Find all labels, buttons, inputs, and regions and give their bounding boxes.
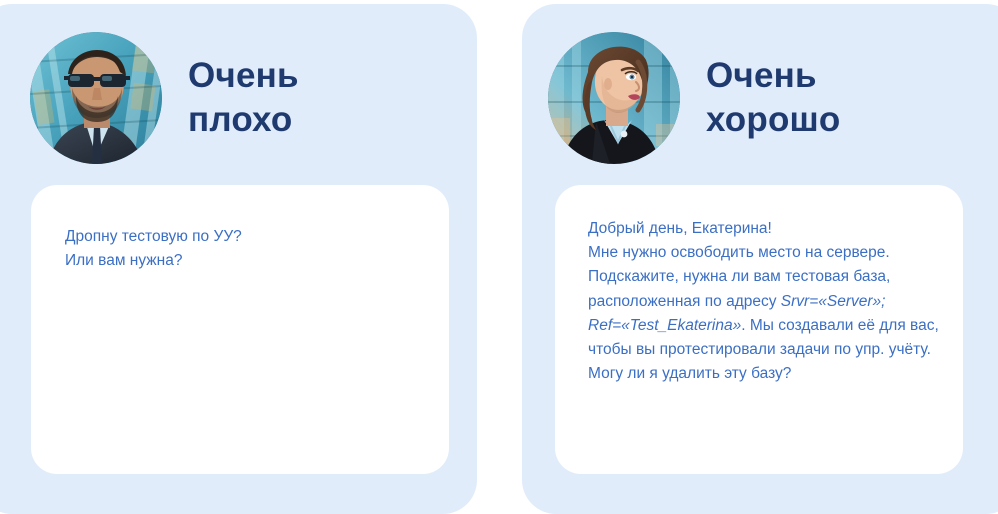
avatar-photo-man-sunglasses: [30, 32, 162, 164]
card-header-bad: Очень плохо: [30, 32, 299, 164]
card-title-good: Очень хорошо: [706, 54, 840, 142]
message-text-good: Добрый день, Екатерина! Мне нужно освобо…: [588, 217, 957, 386]
message-text-bad: Дропну тестовую по УУ? Или вам нужна?: [65, 225, 439, 273]
message-italic-ref: Ref=«Test_Ekaterina»: [588, 317, 741, 334]
message-bubble-bad: Дропну тестовую по УУ? Или вам нужна?: [31, 185, 449, 474]
comparison-board: Очень плохо Дропну тестовую по УУ? Или в…: [0, 0, 998, 501]
card-very-bad: Очень плохо Дропну тестовую по УУ? Или в…: [0, 4, 477, 514]
message-line-2: Или вам нужна?: [65, 252, 182, 269]
message-line-1: Дропну тестовую по УУ?: [65, 228, 242, 245]
card-very-good: Очень хорошо Добрый день, Екатерина! Мне…: [522, 4, 998, 514]
card-title-bad: Очень плохо: [188, 54, 299, 142]
avatar-photo-woman-jacket: [548, 32, 680, 164]
message-bubble-good: Добрый день, Екатерина! Мне нужно освобо…: [555, 185, 963, 474]
card-header-good: Очень хорошо: [548, 32, 840, 164]
message-italic-srvr: Srvr=«Server»;: [781, 293, 886, 310]
